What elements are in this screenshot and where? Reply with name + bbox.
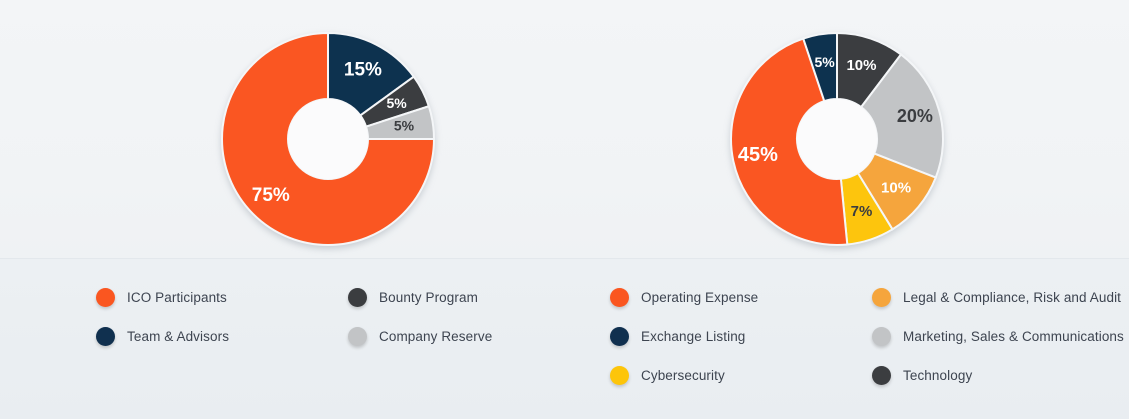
slice-percentage-label: 20% bbox=[897, 106, 933, 126]
legend-color-swatch-icon bbox=[610, 288, 629, 307]
legend-item-label: Team & Advisors bbox=[127, 329, 229, 344]
legend-fund-allocation: Operating ExpenseLegal & Compliance, Ris… bbox=[610, 278, 1110, 395]
slice-percentage-label: 5% bbox=[814, 54, 835, 70]
legend-item[interactable]: Bounty Program bbox=[348, 278, 578, 317]
legend-item-label: Legal & Compliance, Risk and Audit bbox=[903, 290, 1121, 305]
legend-item-label: Operating Expense bbox=[641, 290, 758, 305]
legend-color-swatch-icon bbox=[610, 327, 629, 346]
legend-color-swatch-icon bbox=[348, 288, 367, 307]
slice-percentage-label: 10% bbox=[881, 179, 911, 196]
legend-color-swatch-icon bbox=[872, 288, 891, 307]
legend-item[interactable]: Company Reserve bbox=[348, 317, 578, 356]
legend-color-swatch-icon bbox=[872, 327, 891, 346]
donut-chart-fund-allocation[interactable]: 10%20%10%7%45%5% bbox=[731, 33, 943, 245]
charts-band bbox=[0, 0, 1129, 258]
slice-percentage-label: 5% bbox=[386, 95, 407, 111]
legend-item[interactable]: Operating Expense bbox=[610, 278, 860, 317]
slice-percentage-label: 5% bbox=[394, 118, 415, 134]
legend-item[interactable]: Technology bbox=[872, 356, 1122, 395]
donut-chart-token-distribution[interactable]: 15%5%5%75% bbox=[222, 33, 434, 245]
legend-color-swatch-icon bbox=[96, 327, 115, 346]
legend-item-label: Technology bbox=[903, 368, 972, 383]
legend-item-label: Cybersecurity bbox=[641, 368, 725, 383]
legend-item[interactable]: Marketing, Sales & Communications bbox=[872, 317, 1122, 356]
legend-token-distribution: ICO ParticipantsBounty ProgramTeam & Adv… bbox=[96, 278, 566, 356]
infographic-canvas: 15%5%5%75% 10%20%10%7%45%5% ICO Particip… bbox=[0, 0, 1129, 419]
slice-percentage-label: 15% bbox=[344, 59, 382, 80]
legend-color-swatch-icon bbox=[872, 366, 891, 385]
donut-hole-right bbox=[797, 99, 877, 179]
slice-percentage-label: 7% bbox=[851, 203, 873, 220]
legend-item[interactable]: Cybersecurity bbox=[610, 356, 860, 395]
slice-percentage-label: 45% bbox=[738, 144, 778, 166]
legend-item[interactable]: Legal & Compliance, Risk and Audit bbox=[872, 278, 1122, 317]
legend-color-swatch-icon bbox=[610, 366, 629, 385]
legend-item-label: ICO Participants bbox=[127, 290, 227, 305]
donut-hole-left bbox=[288, 99, 368, 179]
donut-svg-right: 10%20%10%7%45%5% bbox=[731, 33, 943, 245]
legend-item[interactable]: ICO Participants bbox=[96, 278, 336, 317]
legend-item-label: Exchange Listing bbox=[641, 329, 745, 344]
legend-grid-right: Operating ExpenseLegal & Compliance, Ris… bbox=[610, 278, 1110, 395]
legend-item[interactable]: Team & Advisors bbox=[96, 317, 336, 356]
donut-svg-left: 15%5%5%75% bbox=[222, 33, 434, 245]
legend-color-swatch-icon bbox=[348, 327, 367, 346]
legend-item-label: Company Reserve bbox=[379, 329, 492, 344]
legend-grid-left: ICO ParticipantsBounty ProgramTeam & Adv… bbox=[96, 278, 566, 356]
slice-percentage-label: 75% bbox=[252, 185, 290, 206]
legend-item-label: Marketing, Sales & Communications bbox=[903, 329, 1124, 344]
legend-item[interactable]: Exchange Listing bbox=[610, 317, 860, 356]
legend-item-label: Bounty Program bbox=[379, 290, 478, 305]
legend-color-swatch-icon bbox=[96, 288, 115, 307]
slice-percentage-label: 10% bbox=[846, 57, 876, 74]
